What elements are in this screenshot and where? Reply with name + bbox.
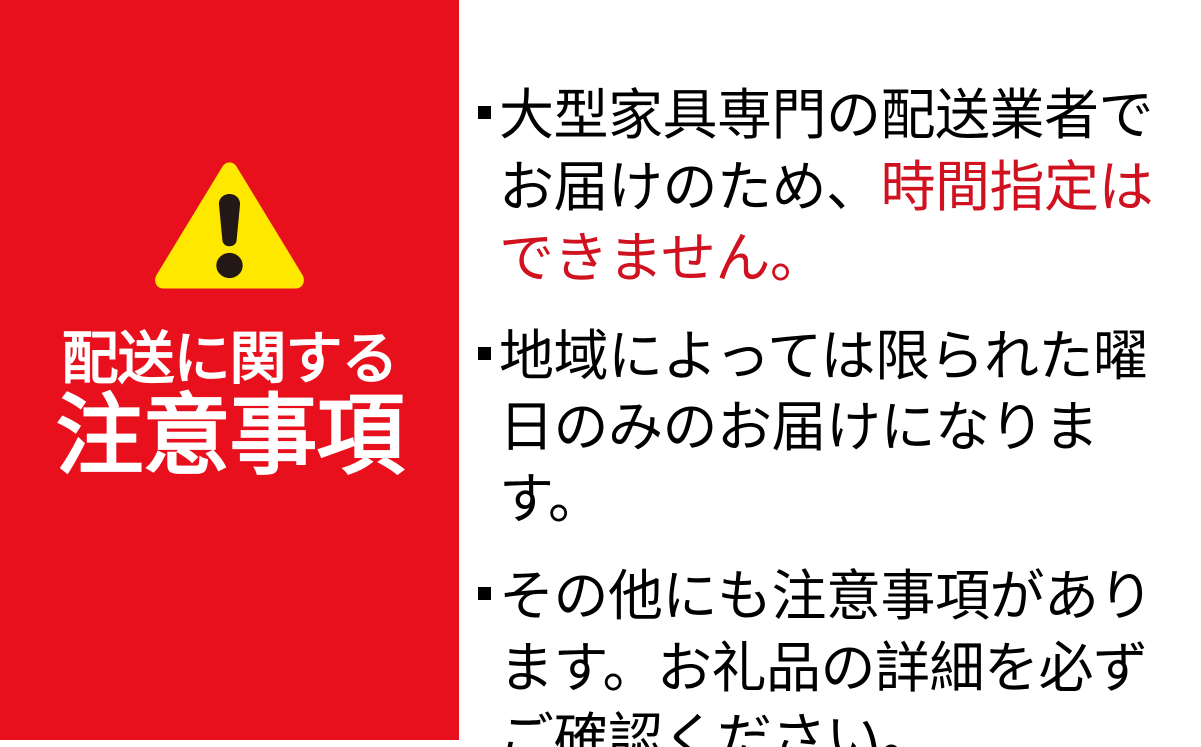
notice-text-3: その他にも注意事項があります。お礼品の詳細を必ずご確認ください。 <box>499 561 1178 747</box>
panel-title: 配送に関する 注意事項 <box>0 330 459 482</box>
normal-text: 地域によっては限られた曜日のみのお届けになります。 <box>499 325 1148 530</box>
list-item: 地域によっては限られた曜日のみのお届けになります。 <box>478 321 1178 536</box>
list-item: その他にも注意事項があります。お礼品の詳細を必ずご確認ください。 <box>478 561 1178 747</box>
red-notice-panel: 配送に関する 注意事項 <box>0 0 459 740</box>
panel-title-line-2: 注意事項 <box>0 390 459 482</box>
notice-list: 大型家具専門の配送業者でお届けのため、時間指定はできません。 地域によっては限ら… <box>478 80 1178 747</box>
notice-text-1: 大型家具専門の配送業者でお届けのため、時間指定はできません。 <box>499 80 1178 295</box>
notice-text-2: 地域によっては限られた曜日のみのお届けになります。 <box>499 321 1178 536</box>
bullet-square-icon <box>478 587 491 600</box>
normal-text: その他にも注意事項があります。お礼品の詳細を必ずご確認ください。 <box>499 565 1153 747</box>
delivery-notice-banner: 配送に関する 注意事項 大型家具専門の配送業者でお届けのため、時間指定はできませ… <box>0 0 1201 747</box>
panel-title-line-1: 配送に関する <box>0 330 459 388</box>
warning-triangle-icon <box>152 160 307 293</box>
bullet-square-icon <box>478 347 491 360</box>
list-item: 大型家具専門の配送業者でお届けのため、時間指定はできません。 <box>478 80 1178 295</box>
bullet-square-icon <box>478 106 491 119</box>
